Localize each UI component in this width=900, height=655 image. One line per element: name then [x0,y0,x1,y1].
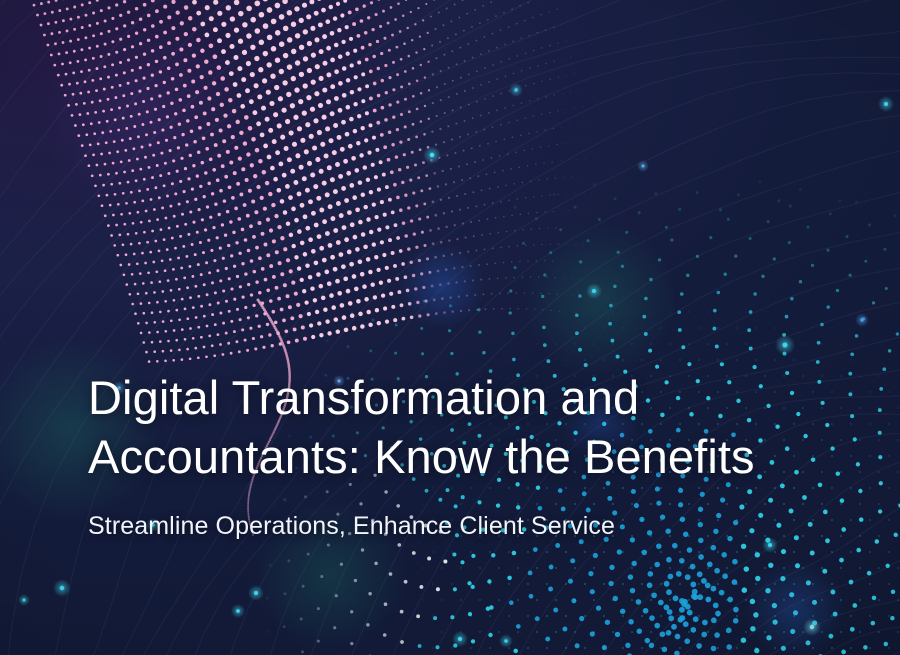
page-title: Digital Transformation and Accountants: … [88,368,858,486]
blue-glow-c [0,0,900,655]
vignette-overlay [0,0,900,655]
blue-glow-b [0,0,900,655]
blue-glow-a [0,0,900,655]
hero-banner: Digital Transformation and Accountants: … [0,0,900,655]
background-gradient [0,0,900,655]
sparkle-points [0,0,900,655]
page-subtitle: Streamline Operations, Enhance Client Se… [88,510,858,542]
green-glow-middle [0,0,900,655]
pink-particle-wave [0,0,900,655]
hero-text-block: Digital Transformation and Accountants: … [88,368,858,542]
cyan-particle-swirl [0,0,900,655]
contour-arc-lines [0,0,900,655]
green-glow-left [0,0,900,655]
violet-glow [0,0,900,655]
green-glow-bottom [0,0,900,655]
